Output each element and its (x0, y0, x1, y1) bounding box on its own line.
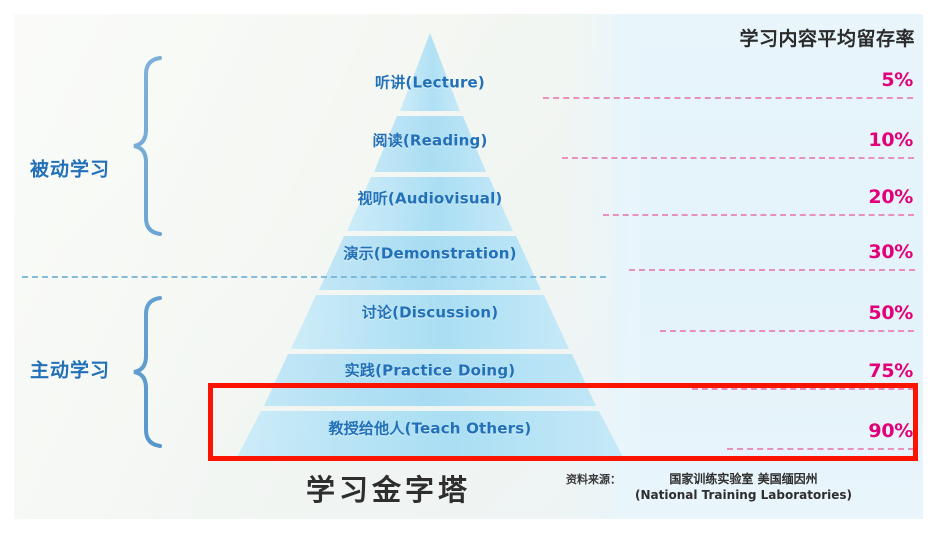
tier-label-6: 实践(Practice Doing) (345, 360, 516, 381)
source-credit: 资料来源： 国家训练实验室 美国缅因州 (National Training L… (566, 470, 852, 502)
percentage-rule-3 (603, 214, 914, 216)
tier-label-3: 视听(Audiovisual) (358, 188, 503, 209)
tier-label-5: 讨论(Discussion) (362, 302, 499, 323)
tier-label-1: 听讲(Lecture) (375, 72, 485, 93)
group-label-active-learning: 主动学习 (30, 356, 110, 383)
source-organization-cn: 国家训练实验室 美国缅因州 (635, 470, 852, 487)
retention-rate-header: 学习内容平均留存率 (739, 24, 915, 51)
retention-percentage-5: 50% (868, 302, 913, 324)
pyramid-title: 学习金字塔 (306, 467, 471, 509)
learning-pyramid-diagram: 学习内容平均留存率 被动学习 主动学习 听讲(Lecture)5%阅读(Read… (0, 0, 937, 537)
source-organization-en: (National Training Laboratories) (635, 488, 852, 502)
retention-percentage-6: 75% (868, 360, 913, 382)
passive-active-divider (22, 276, 606, 278)
group-label-passive-learning: 被动学习 (30, 155, 110, 182)
percentage-rule-5 (660, 330, 914, 332)
percentage-rule-4 (629, 269, 915, 271)
percentage-rule-1 (543, 97, 913, 99)
percentage-rule-2 (562, 157, 914, 159)
tier-label-2: 阅读(Reading) (372, 130, 487, 151)
source-label: 资料来源： (566, 470, 621, 487)
retention-percentage-4: 30% (868, 241, 913, 263)
retention-percentage-3: 20% (868, 186, 913, 208)
highlight-box-teach-others[interactable] (208, 383, 918, 461)
retention-percentage-1: 5% (881, 69, 913, 91)
retention-percentage-2: 10% (868, 129, 913, 151)
tier-label-4: 演示(Demonstration) (343, 243, 516, 264)
